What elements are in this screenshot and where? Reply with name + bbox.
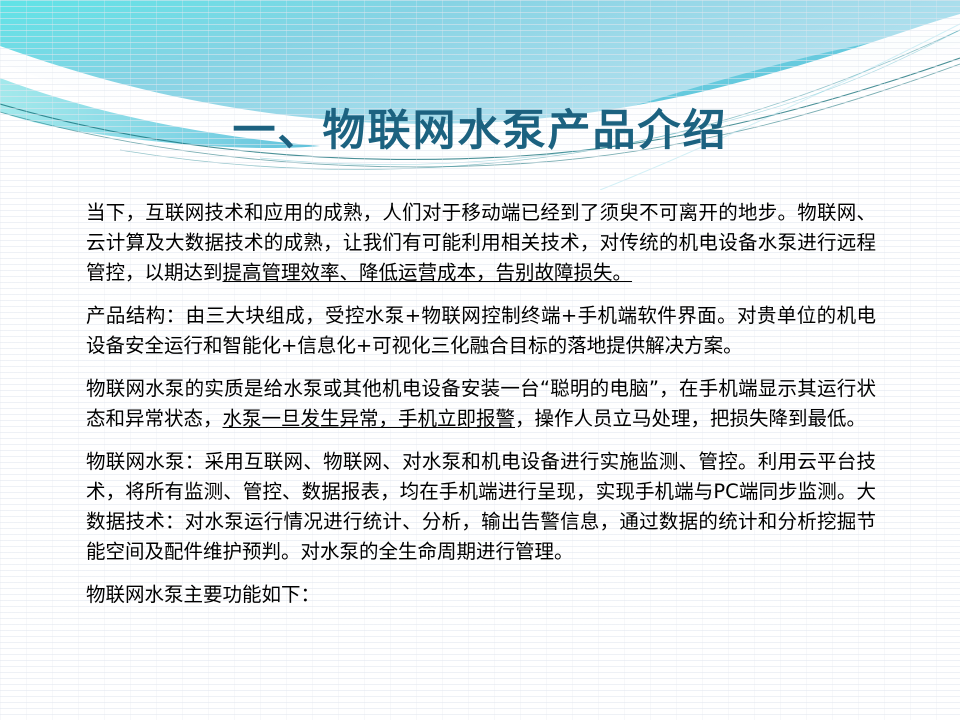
body-text-run: 物联网水泵主要功能如下： <box>86 583 320 606</box>
body-text-run: ，操作人员立马处理，把损失降到最低。 <box>515 407 866 430</box>
header-wave-graphic <box>0 0 960 190</box>
emphasis-underlined-text: 水泵一旦发生异常，手机立即报警 <box>223 407 516 430</box>
slide-body-text: 当下，互联网技术和应用的成熟，人们对于移动端已经到了须臾不可离开的地步。物联网、… <box>86 198 876 610</box>
body-paragraph: 物联网水泵的实质是给水泵或其他机电设备安装一台“聪明的电脑”，在手机端显示其运行… <box>86 374 876 434</box>
body-text-run: 产品结构：由三大块组成，受控水泵+物联网控制终端+手机端软件界面。对贵单位的机电… <box>86 304 876 357</box>
body-paragraph: 物联网水泵主要功能如下： <box>86 580 876 610</box>
presentation-slide: 一、物联网水泵产品介绍 当下，互联网技术和应用的成熟，人们对于移动端已经到了须臾… <box>0 0 960 720</box>
body-paragraph: 产品结构：由三大块组成，受控水泵+物联网控制终端+手机端软件界面。对贵单位的机电… <box>86 301 876 361</box>
body-paragraph: 物联网水泵：采用互联网、物联网、对水泵和机电设备进行实施监测、管控。利用云平台技… <box>86 447 876 567</box>
body-paragraph: 当下，互联网技术和应用的成熟，人们对于移动端已经到了须臾不可离开的地步。物联网、… <box>86 198 876 288</box>
body-text-run: 物联网水泵：采用互联网、物联网、对水泵和机电设备进行实施监测、管控。利用云平台技… <box>86 450 876 563</box>
emphasis-underlined-text: 提高管理效率、降低运营成本，告别故障损失。 <box>223 261 633 284</box>
wave-svg <box>0 0 960 190</box>
page-title: 一、物联网水泵产品介绍 <box>0 108 960 155</box>
